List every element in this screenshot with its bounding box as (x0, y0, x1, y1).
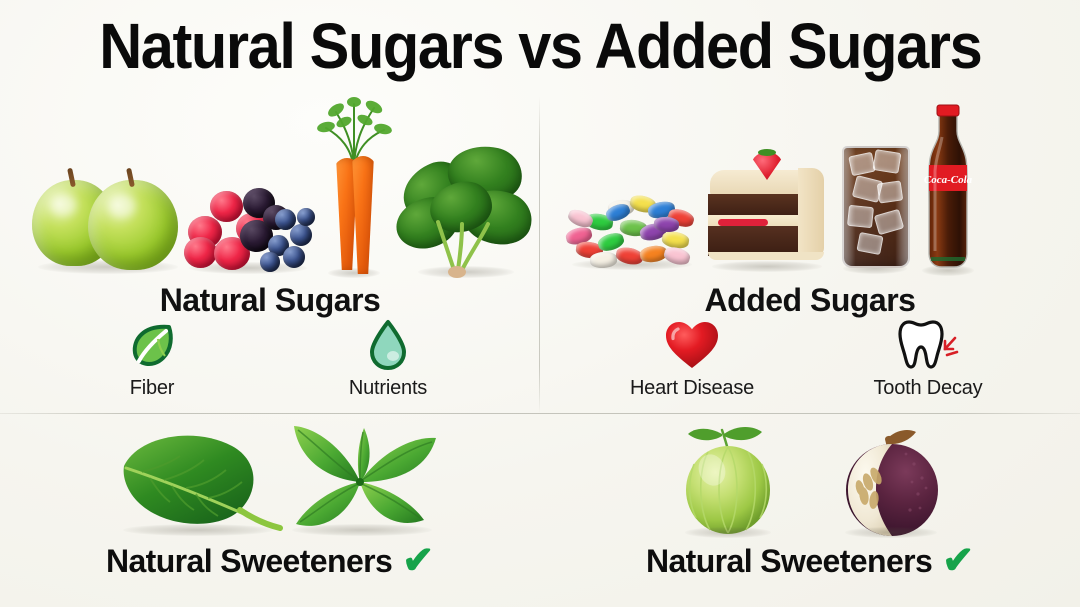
food-stevia-leaf (108, 428, 288, 540)
risk-tooth-decay: Tooth Decay (853, 318, 1003, 400)
page-title: Natural Sugars vs Added Sugars (99, 14, 981, 78)
benefit-fiber-label: Fiber (130, 377, 175, 400)
natural-sugars-imagery (0, 96, 540, 286)
benefit-nutrients-label: Nutrients (349, 377, 427, 400)
tooth-icon (897, 318, 959, 370)
infographic-root: Natural Sugars vs Added Sugars (0, 0, 1080, 607)
natural-sugars-label: Natural Sugars (0, 282, 540, 319)
panel-added-sugars: Coca-Cola Added Sugars (540, 96, 1080, 414)
food-carrots (316, 98, 392, 278)
food-jelly-beans (562, 180, 702, 270)
food-mint-sprig (272, 420, 452, 540)
panel-natural-sugars: Natural Sugars Fiber (0, 96, 540, 414)
coca-cola-wordmark: Coca-Cola (924, 174, 973, 186)
natural-sweeteners-left-label-row: Natural Sweeteners ✔ (0, 542, 540, 580)
bottle-cap (937, 105, 959, 116)
food-mixed-berries (180, 169, 315, 274)
food-monk-fruit-halved (826, 424, 956, 540)
food-spinach (396, 138, 536, 278)
risk-heart-disease: Heart Disease (617, 318, 767, 400)
title-bar: Natural Sugars vs Added Sugars (0, 0, 1080, 92)
check-icon: ✔ (942, 542, 974, 580)
water-drop-icon (366, 318, 410, 370)
leaf-icon (127, 318, 177, 370)
decay-arrow-icon (945, 338, 957, 355)
natural-sugars-benefits: Fiber Nutrients (0, 318, 540, 400)
food-coca-cola-bottle: Coca-Cola (912, 101, 984, 276)
spinach-stems-icon (396, 218, 536, 278)
added-sugars-imagery: Coca-Cola (540, 96, 1080, 286)
natural-sweeteners-right-label: Natural Sweeteners (646, 543, 932, 580)
food-green-apples (28, 146, 188, 276)
sweeteners-left-imagery (0, 414, 540, 540)
food-chocolate-cake-slice (702, 152, 832, 272)
check-icon: ✔ (402, 542, 434, 580)
risk-heart-disease-label: Heart Disease (630, 377, 754, 400)
food-glass-of-cola (836, 124, 914, 274)
added-sugars-label: Added Sugars (540, 282, 1080, 319)
panel-natural-sweeteners-right: Natural Sweeteners ✔ (540, 414, 1080, 607)
sweeteners-right-imagery (540, 414, 1080, 540)
added-sugars-risks: Heart Disease Tooth Decay (540, 318, 1080, 400)
benefit-fiber: Fiber (77, 318, 227, 400)
benefit-nutrients: Nutrients (313, 318, 463, 400)
natural-sweeteners-right-label-row: Natural Sweeteners ✔ (540, 542, 1080, 580)
natural-sweeteners-left-label: Natural Sweeteners (106, 543, 392, 580)
panel-natural-sweeteners-left: Natural Sweeteners ✔ (0, 414, 540, 607)
heart-icon (664, 318, 720, 370)
food-monk-fruit-whole (668, 420, 788, 540)
risk-tooth-decay-label: Tooth Decay (874, 377, 983, 400)
